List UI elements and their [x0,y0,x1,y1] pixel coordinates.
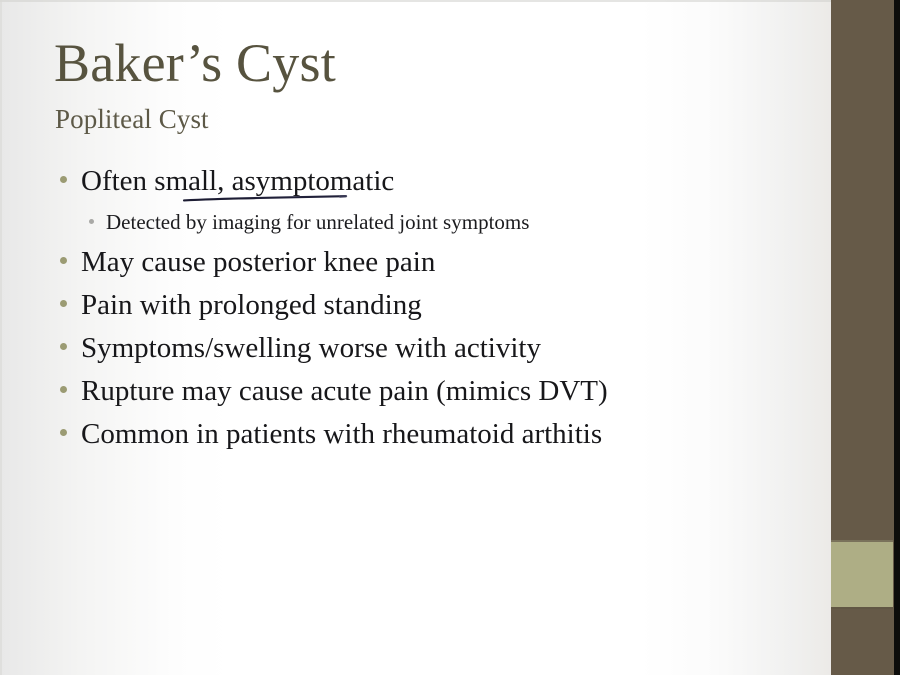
bullet-list: Often small, asymptomatic Detected by im… [60,160,800,456]
slide-canvas: Baker’s Cyst Popliteal Cyst Often small,… [0,0,900,675]
sub-bullet-dot-icon [89,219,94,224]
list-item-label: Symptoms/swelling worse with activity [81,327,541,370]
list-item: Detected by imaging for unrelated joint … [60,203,800,241]
list-item: Often small, asymptomatic [60,160,800,203]
sidebar-edge-strip [894,0,900,675]
bullet-dot-icon [60,176,67,183]
sidebar-accent-divider-bottom [831,607,893,609]
bullet-dot-icon [60,386,67,393]
slide-subtitle: Popliteal Cyst [55,106,209,133]
list-item: Common in patients with rheumatoid arthi… [60,413,800,456]
bullet-dot-icon [60,300,67,307]
list-item: Pain with prolonged standing [60,284,800,327]
bullet-dot-icon [60,257,67,264]
bullet-dot-icon [60,429,67,436]
bullet-dot-icon [60,343,67,350]
slide-title: Baker’s Cyst [54,36,336,90]
list-item: Symptoms/swelling worse with activity [60,327,800,370]
slide-left-border [0,0,2,675]
list-item-label: Often small, asymptomatic [81,160,394,203]
slide-top-border [0,0,832,2]
list-item-label: Rupture may cause acute pain (mimics DVT… [81,370,608,413]
list-item-label: May cause posterior knee pain [81,241,435,284]
list-item-label: Common in patients with rheumatoid arthi… [81,413,602,456]
list-item: Rupture may cause acute pain (mimics DVT… [60,370,800,413]
list-item: May cause posterior knee pain [60,241,800,284]
list-item-label: Pain with prolonged standing [81,284,422,327]
sidebar-accent-block [831,542,893,607]
list-item-label: Detected by imaging for unrelated joint … [106,203,529,241]
